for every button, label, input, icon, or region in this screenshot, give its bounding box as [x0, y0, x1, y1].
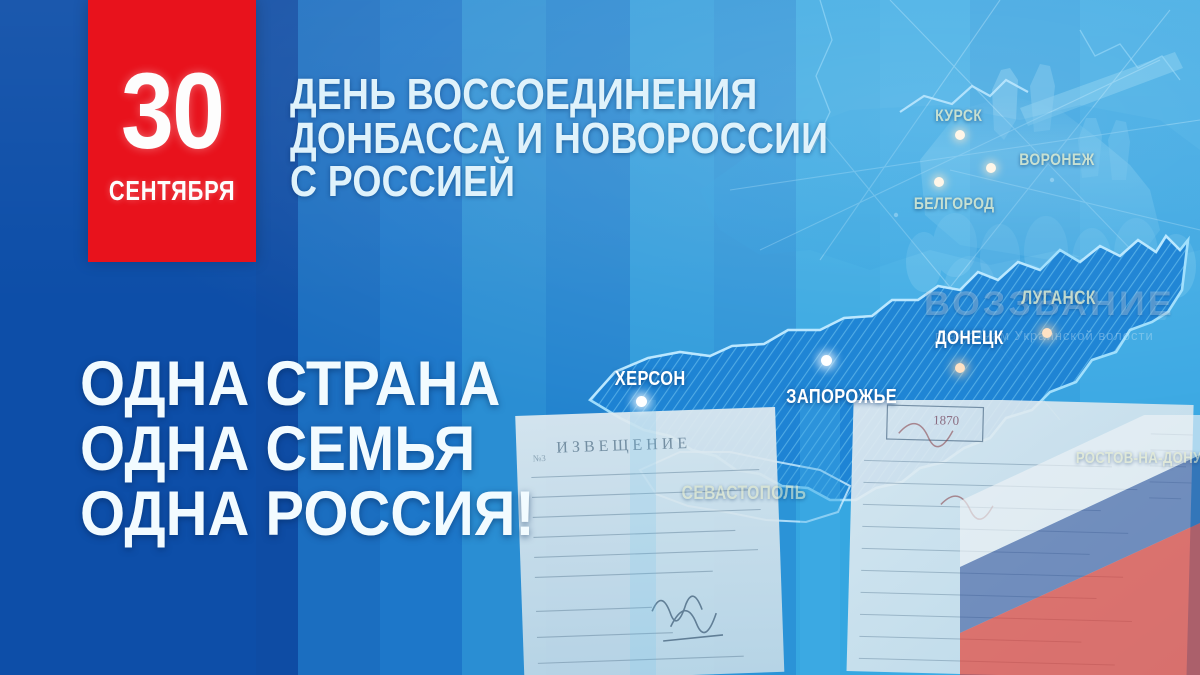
- city-dot-4: [955, 363, 965, 373]
- city-label-луганск: ЛУГАНСК: [1021, 288, 1096, 310]
- city-label-курск: КУРСК: [935, 106, 982, 126]
- slogan-line-3: ОДНА РОССИЯ!: [80, 482, 535, 547]
- city-dot-0: [955, 130, 965, 140]
- city-dot-6: [821, 355, 832, 366]
- date-badge: 30 СЕНТЯБРЯ: [88, 0, 256, 262]
- svg-text:1870: 1870: [933, 412, 959, 428]
- headline-line-3: С РОССИЕЙ: [290, 160, 800, 204]
- city-label-севастополь: СЕВАСТОПОЛЬ: [682, 483, 807, 505]
- city-label-ростов-на-дону: РОСТОВ-НА-ДОНУ: [1076, 450, 1200, 468]
- slogan: ОДНА СТРАНА ОДНА СЕМЬЯ ОДНА РОССИЯ!: [80, 352, 535, 547]
- city-dot-1: [986, 163, 996, 173]
- slogan-line-2: ОДНА СЕМЬЯ: [80, 417, 535, 482]
- headline-line-2: ДОНБАССА И НОВОРОССИИ: [290, 117, 800, 161]
- slogan-line-1: ОДНА СТРАНА: [80, 352, 535, 417]
- city-dot-3: [1042, 328, 1052, 338]
- city-dot-2: [934, 177, 944, 187]
- city-label-донецк: ДОНЕЦК: [935, 328, 1003, 350]
- city-label-херсон: ХЕРСОН: [615, 368, 686, 391]
- city-label-белгород: БЕЛГОРОД: [914, 194, 995, 214]
- headline: ДЕНЬ ВОССОЕДИНЕНИЯ ДОНБАССА И НОВОРОССИИ…: [290, 73, 800, 204]
- badge-month-label: СЕНТЯБРЯ: [109, 175, 236, 207]
- headline-line-1: ДЕНЬ ВОССОЕДИНЕНИЯ: [290, 73, 800, 117]
- city-dot-5: [636, 396, 647, 407]
- city-label-воронеж: ВОРОНЕЖ: [1019, 150, 1094, 170]
- city-label-запорожье: ЗАПОРОЖЬЕ: [786, 386, 897, 409]
- poster-canvas: ИЗВЕЩЕНИЕ №3: [0, 0, 1200, 675]
- background-band-0: [0, 0, 88, 675]
- badge-day-number: 30: [121, 61, 223, 160]
